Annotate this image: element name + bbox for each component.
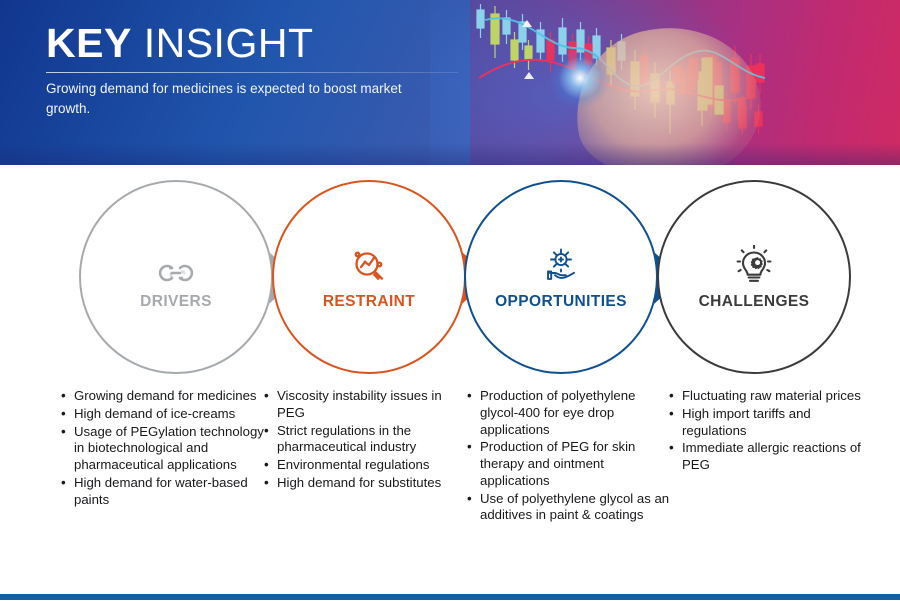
- page-subtitle: Growing demand for medicines is expected…: [46, 79, 426, 118]
- magnifier-chart-icon: [349, 243, 389, 287]
- bullet-column-drivers: Growing demand for medicines High demand…: [60, 388, 265, 509]
- list-item: High demand for water-based paints: [60, 475, 265, 509]
- footer-bar: [0, 594, 900, 600]
- bullet-column-restraint: Viscosity instability issues in PEG Stri…: [263, 388, 468, 493]
- bullet-columns: Growing demand for medicines High demand…: [0, 388, 900, 588]
- svg-text:$: $: [170, 273, 173, 279]
- list-item: Immediate allergic reactions of PEG: [668, 440, 873, 474]
- list-item: Environmental regulations: [263, 457, 468, 474]
- list-item: High demand of ice-creams: [60, 406, 265, 423]
- spark-glow: [550, 48, 610, 108]
- list-item: High import tariffs and regulations: [668, 406, 873, 440]
- stage-circle-restraint[interactable]: RESTRAINT: [272, 180, 466, 374]
- list-item: Use of polyethylene glycol as an additiv…: [466, 491, 671, 525]
- bullet-column-challenges: Fluctuating raw material prices High imp…: [668, 388, 873, 475]
- stage-label-challenges: CHALLENGES: [699, 293, 810, 311]
- list-item: Production of PEG for skin therapy and o…: [466, 439, 671, 489]
- page-title-bold: KEY: [46, 20, 132, 66]
- stage-circle-challenges[interactable]: CHALLENGES: [657, 180, 851, 374]
- page-title-light: INSIGHT: [132, 20, 314, 66]
- list-item: Growing demand for medicines: [60, 388, 265, 405]
- lightbulb-gear-icon: [734, 243, 774, 287]
- stage-label-opportunities: OPPORTUNITIES: [495, 293, 627, 311]
- candlestick-chart-image: [455, 0, 900, 165]
- hand-holding-sun-plus-icon: [540, 243, 582, 287]
- bullet-column-opportunities: Production of polyethylene glycol-400 fo…: [466, 388, 671, 525]
- title-divider: [46, 72, 458, 73]
- list-item: Fluctuating raw material prices: [668, 388, 873, 405]
- list-item: High demand for substitutes: [263, 475, 468, 492]
- stage-label-restraint: RESTRAINT: [323, 293, 415, 311]
- svg-text:%: %: [181, 270, 186, 276]
- header-banner: KEY INSIGHT Growing demand for medicines…: [0, 0, 900, 165]
- stage-circle-drivers[interactable]: $ % DRIVERS: [79, 180, 273, 374]
- list-item: Strict regulations in the pharmaceutical…: [263, 423, 468, 457]
- stage-circle-opportunities[interactable]: OPPORTUNITIES: [464, 180, 658, 374]
- list-item: Viscosity instability issues in PEG: [263, 388, 468, 422]
- list-item: Usage of PEGylation technology in biotec…: [60, 424, 265, 474]
- list-item: Production of polyethylene glycol-400 fo…: [466, 388, 671, 438]
- header-bottom-fade: [0, 143, 900, 165]
- page-title: KEY INSIGHT: [46, 22, 314, 65]
- infinity-cycle-icon: $ %: [155, 243, 197, 287]
- stage-label-drivers: DRIVERS: [140, 293, 212, 311]
